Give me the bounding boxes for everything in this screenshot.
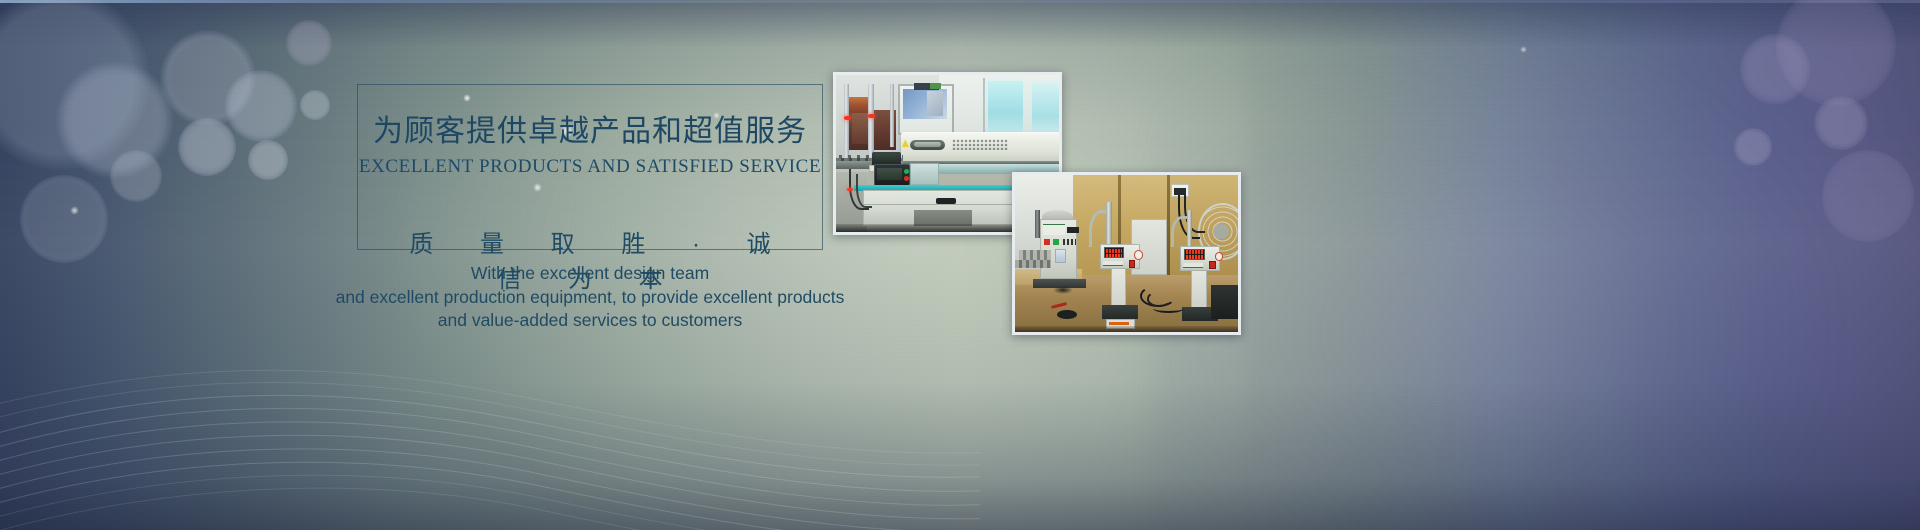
promo-banner: 为顾客提供卓越产品和超值服务 EXCELLENT PRODUCTS AND SA… bbox=[0, 0, 1920, 530]
photo-riveting-press-machines bbox=[1012, 172, 1241, 335]
